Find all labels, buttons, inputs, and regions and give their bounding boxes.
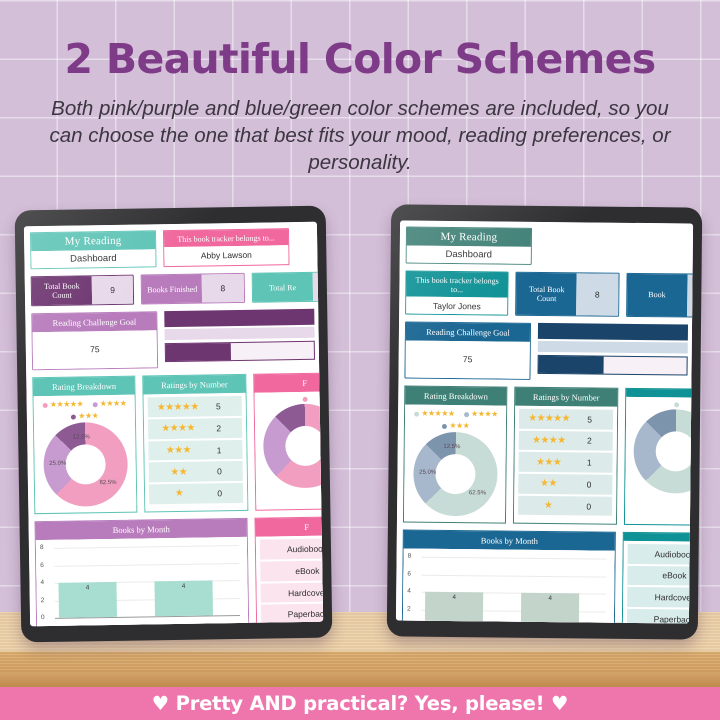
stat-card-label: Total Book Count — [32, 276, 92, 305]
donut-legend-item: ★★★★★ — [414, 410, 455, 418]
legend-stars: ★★★★ — [471, 410, 498, 418]
dashboard-blue-green: My ReadingDashboardThis book tracker bel… — [396, 220, 693, 623]
ratings-row: ★★★1 — [519, 452, 613, 472]
progress-panel — [164, 309, 315, 368]
ratings-row: ★★★1 — [149, 440, 243, 461]
donut-slice-label: 62.5% — [100, 480, 117, 486]
legend-stars: ★★★ — [78, 413, 98, 421]
dashboard-row-1: My ReadingDashboardThis book tracker bel… — [30, 227, 323, 269]
legend-dot-icon — [42, 403, 47, 408]
legend-dot-icon — [674, 402, 679, 407]
format-list-card: AudiobookeBookHardcoverPaperbackOther — [622, 532, 693, 624]
stat-card-label: Total Book Count — [516, 273, 576, 316]
title-card: My ReadingDashboard — [406, 227, 532, 265]
y-tick-label: 6 — [407, 570, 411, 577]
ratings-row-stars: ★ — [524, 500, 571, 511]
ratings-row: ★★★★★5 — [148, 396, 242, 417]
ratings-row-count: 2 — [202, 423, 236, 434]
ratings-row-count: 0 — [202, 466, 236, 477]
progress-strip — [165, 327, 315, 340]
legend-dot-icon — [464, 412, 469, 417]
donut-slice-label: 62.5% — [469, 490, 486, 496]
format-list-row: Paperback — [261, 604, 323, 625]
ratings-row-count: 5 — [573, 414, 607, 424]
stat-card-value: 9 — [92, 276, 134, 305]
page-title: 2 Beautiful Color Schemes — [22, 38, 698, 81]
partial-legend — [626, 397, 693, 409]
partial-chart-heading: F — [254, 374, 323, 394]
dashboard-row-3: Reading Challenge Goal75 — [31, 309, 323, 371]
partial-legend — [254, 392, 323, 405]
ratings-row-count: 1 — [202, 445, 236, 456]
y-tick-label: 6 — [40, 562, 44, 569]
stat-card: Books Finished8 — [141, 273, 245, 305]
dashboard-row-4: Rating Breakdown★★★★★★★★★★★★62.5%25.0%12… — [403, 386, 693, 526]
ratings-row-stars: ★★★★★ — [154, 401, 201, 413]
progress-track — [165, 341, 315, 362]
ratings-row-stars: ★★ — [155, 466, 202, 478]
partial-legend-item — [674, 402, 679, 407]
legend-dot-icon — [71, 414, 76, 419]
title-card-heading: My Reading — [31, 231, 155, 251]
books-by-month-body: 0246841/2342/23 — [36, 537, 249, 626]
y-tick-label: 4 — [407, 588, 411, 595]
stat-card-label: Book — [627, 274, 687, 317]
stat-card-label: Total Re — [252, 273, 312, 302]
goal-card-heading: Reading Challenge Goal — [406, 323, 530, 342]
progress-panel — [537, 323, 688, 382]
ratings-by-number-heading: Ratings by Number — [515, 388, 617, 407]
title-card-value: Dashboard — [31, 249, 155, 268]
stat-card-label: Books Finished — [142, 275, 202, 304]
legend-dot-icon — [442, 423, 447, 428]
stat-card-value: 8 — [202, 274, 244, 303]
goal-card-heading: Reading Challenge Goal — [32, 313, 156, 333]
donut-hole — [435, 454, 475, 494]
progress-track — [538, 355, 688, 376]
dashboard-row-1: My ReadingDashboard — [406, 227, 693, 267]
bar: 4 — [58, 582, 117, 618]
bar: 4 — [521, 593, 579, 624]
legend-stars: ★★★★★ — [50, 401, 83, 410]
rating-breakdown-card: Rating Breakdown★★★★★★★★★★★★62.5%25.0%12… — [403, 386, 508, 524]
progress-fill — [539, 356, 604, 374]
ratings-row-count: 1 — [572, 457, 606, 467]
ratings-row-stars: ★★★★ — [525, 435, 572, 446]
gridline — [422, 557, 607, 560]
donut-hole — [285, 426, 323, 467]
owner-card-value: Taylor Jones — [406, 297, 508, 315]
rating-breakdown-heading: Rating Breakdown — [33, 377, 135, 397]
ratings-row: ★★0 — [149, 461, 243, 482]
format-list-row: Audiobook — [260, 539, 323, 560]
partial-donut-chart — [634, 409, 694, 494]
y-tick-label: 8 — [408, 553, 412, 560]
y-tick-label: 0 — [407, 623, 411, 624]
format-list-row: Audiobook — [628, 544, 693, 564]
banner-text: ♥ Pretty AND practical? Yes, please! ♥ — [152, 692, 569, 715]
partial-donut-chart — [263, 404, 323, 489]
y-tick-label: 8 — [40, 544, 44, 551]
goal-card-value: 75 — [405, 341, 529, 379]
ratings-row: ★★0 — [519, 474, 613, 494]
progress-strip — [538, 341, 688, 354]
dashboard-row-4: Rating Breakdown★★★★★★★★★★★★62.5%25.0%12… — [32, 372, 323, 514]
donut-slice-label: 12.5% — [443, 444, 460, 450]
donut-slice-label: 25.0% — [49, 461, 66, 467]
bar-chart-plot: 0246841/2342/23 — [36, 537, 249, 626]
goal-card: Reading Challenge Goal75 — [31, 312, 158, 371]
rating-breakdown-card: Rating Breakdown★★★★★★★★★★★★62.5%25.0%12… — [32, 376, 137, 515]
format-list-body: AudiobookeBookHardcoverPaperbackOther — [623, 541, 693, 624]
gridline — [421, 574, 606, 577]
format-list-row: eBook — [627, 566, 693, 586]
stat-card-value: 8 — [576, 273, 618, 315]
ratings-row-stars: ★★★ — [155, 445, 202, 457]
donut-legend-item: ★★★★ — [92, 400, 126, 409]
ratings-by-number-card: Ratings by Number★★★★★5★★★★2★★★1★★0★0 — [143, 374, 248, 513]
donut-legend-item: ★★★★★ — [42, 401, 83, 410]
donut-legend-item: ★★★ — [71, 413, 99, 421]
rating-breakdown-heading: Rating Breakdown — [405, 387, 507, 406]
tablet-screen-left: My ReadingDashboardThis book tracker bel… — [24, 222, 323, 627]
ratings-row: ★★★★2 — [148, 418, 242, 439]
owner-card: This book tracker belongs to...Abby Laws… — [163, 228, 290, 267]
ratings-row-count: 0 — [572, 479, 606, 489]
format-list-row: Paperback — [627, 609, 693, 624]
title-card-value: Dashboard — [407, 246, 531, 264]
desk-edge — [0, 672, 720, 687]
format-list-row: Hardcover — [261, 582, 323, 603]
bottom-banner: ♥ Pretty AND practical? Yes, please! ♥ — [0, 687, 720, 720]
owner-card-heading: This book tracker belongs to... — [406, 272, 508, 298]
donut-legend: ★★★★★★★★★★★★ — [34, 395, 136, 423]
partial-legend-item — [302, 397, 307, 402]
legend-dot-icon — [414, 411, 419, 416]
y-tick-label: 2 — [407, 605, 411, 612]
donut-slice-label: 12.5% — [73, 435, 90, 441]
goal-card: Reading Challenge Goal75 — [404, 322, 531, 380]
format-list-row: eBook — [260, 560, 323, 581]
stat-card: Book — [626, 273, 693, 318]
books-by-month-card: Books by Month0246841/2342/23 — [402, 530, 616, 624]
ratings-row-count: 0 — [203, 488, 237, 499]
bar: 4 — [154, 581, 213, 617]
format-list-heading: F — [256, 517, 323, 537]
stat-card-value — [687, 274, 693, 316]
rating-breakdown-body: ★★★★★★★★★★★★62.5%25.0%12.5% — [404, 405, 506, 517]
ratings-by-number-card: Ratings by Number★★★★★5★★★★2★★★1★★0★0 — [513, 387, 618, 525]
donut-hole — [65, 444, 106, 485]
dashboard-row-2: Total Book Count9Books Finished8Total Re — [31, 271, 323, 306]
partial-chart-body — [625, 397, 693, 510]
y-tick-label: 4 — [40, 579, 44, 586]
dashboard-row-5: Books by Month0246841/2342/23AudiobookeB… — [402, 530, 694, 624]
tablet-pink-purple[interactable]: My ReadingDashboardThis book tracker bel… — [15, 206, 333, 643]
donut-chart: 62.5%25.0%12.5% — [43, 422, 128, 507]
ratings-row-stars: ★★★★★ — [525, 413, 572, 424]
books-by-month-body: 0246841/2342/23 — [403, 549, 615, 624]
legend-stars: ★★★ — [449, 422, 469, 430]
header-section: 2 Beautiful Color Schemes Both pink/purp… — [0, 0, 720, 176]
bar: 4 — [425, 592, 483, 624]
ratings-row-count: 5 — [201, 401, 235, 412]
partial-chart-card — [624, 388, 694, 526]
dashboard-pink-purple: My ReadingDashboardThis book tracker bel… — [24, 222, 323, 627]
donut-chart: 62.5%25.0%12.5% — [413, 432, 498, 517]
tablet-blue-green[interactable]: My ReadingDashboardThis book tracker bel… — [387, 204, 703, 639]
ratings-row-count: 2 — [572, 436, 606, 446]
owner-card: This book tracker belongs to...Taylor Jo… — [405, 271, 509, 316]
books-by-month-card: Books by Month0246841/2342/23 — [35, 518, 250, 626]
ratings-row-count: 0 — [572, 501, 606, 511]
y-tick-label: 0 — [41, 614, 45, 621]
ratings-row: ★0 — [518, 495, 612, 515]
legend-dot-icon — [302, 397, 307, 402]
ratings-row: ★★★★★5 — [519, 409, 613, 429]
donut-legend-item: ★★★★ — [464, 410, 498, 418]
donut-legend: ★★★★★★★★★★★★ — [405, 405, 507, 432]
format-list-body: AudiobookeBookHardcoverPaperbackOther — [256, 535, 323, 626]
donut-slice-label: 25.0% — [419, 470, 436, 476]
bar-chart-area: 0246841/2342/23 — [403, 549, 615, 624]
title-card-heading: My Reading — [407, 228, 531, 247]
bar-chart-area: 0246841/2342/23 — [36, 537, 248, 626]
dashboard-row-2: This book tracker belongs to...Taylor Jo… — [405, 271, 693, 318]
stat-card-value — [312, 272, 323, 301]
ratings-by-number-body: ★★★★★5★★★★2★★★1★★0★0 — [144, 393, 247, 508]
legend-stars: ★★★★★ — [421, 410, 454, 418]
donut-hole — [656, 431, 693, 471]
rating-breakdown-body: ★★★★★★★★★★★★62.5%25.0%12.5% — [34, 395, 137, 508]
stat-card: Total Book Count8 — [515, 272, 619, 317]
y-tick-label: 2 — [41, 597, 45, 604]
title-card: My ReadingDashboard — [30, 230, 157, 269]
ratings-row-stars: ★★★ — [525, 456, 572, 467]
partial-chart-card: F — [253, 372, 323, 511]
gridline — [54, 545, 239, 549]
format-list-row: Other — [261, 625, 323, 626]
gridline — [54, 563, 239, 567]
dashboard-row-3: Reading Challenge Goal75 — [404, 322, 693, 382]
progress-header-bar — [164, 309, 314, 327]
progress-header-bar — [538, 323, 688, 341]
ratings-row-stars: ★ — [155, 488, 202, 500]
dashboard-row-5: Books by Month0246841/2342/23FAudiobooke… — [35, 516, 324, 626]
donut-legend-item: ★★★ — [442, 422, 470, 430]
format-list-card: FAudiobookeBookHardcoverPaperbackOther — [255, 516, 324, 626]
ratings-row-stars: ★★ — [525, 478, 572, 489]
partial-chart-body — [254, 392, 323, 506]
legend-dot-icon — [92, 402, 97, 407]
progress-fill — [166, 343, 231, 361]
ratings-by-number-body: ★★★★★5★★★★2★★★1★★0★0 — [514, 406, 617, 520]
bar-chart-plot: 0246841/2342/23 — [403, 549, 615, 624]
ratings-row-stars: ★★★★ — [154, 423, 201, 435]
tablet-screen-right: My ReadingDashboardThis book tracker bel… — [396, 220, 693, 623]
ratings-row: ★★★★2 — [519, 430, 613, 450]
owner-card-heading: This book tracker belongs to... — [164, 229, 288, 247]
stat-card: Total Book Count9 — [31, 275, 135, 307]
books-by-month-heading: Books by Month — [404, 531, 615, 551]
goal-card-value: 75 — [33, 331, 158, 370]
ratings-by-number-heading: Ratings by Number — [144, 375, 246, 395]
stat-card: Total Re — [251, 271, 323, 303]
page-subtitle: Both pink/purple and blue/green color sc… — [22, 95, 698, 176]
ratings-row: ★0 — [149, 483, 243, 504]
legend-stars: ★★★★ — [100, 400, 127, 408]
format-list-row: Hardcover — [627, 587, 693, 607]
owner-card-value: Abby Lawson — [164, 245, 288, 264]
